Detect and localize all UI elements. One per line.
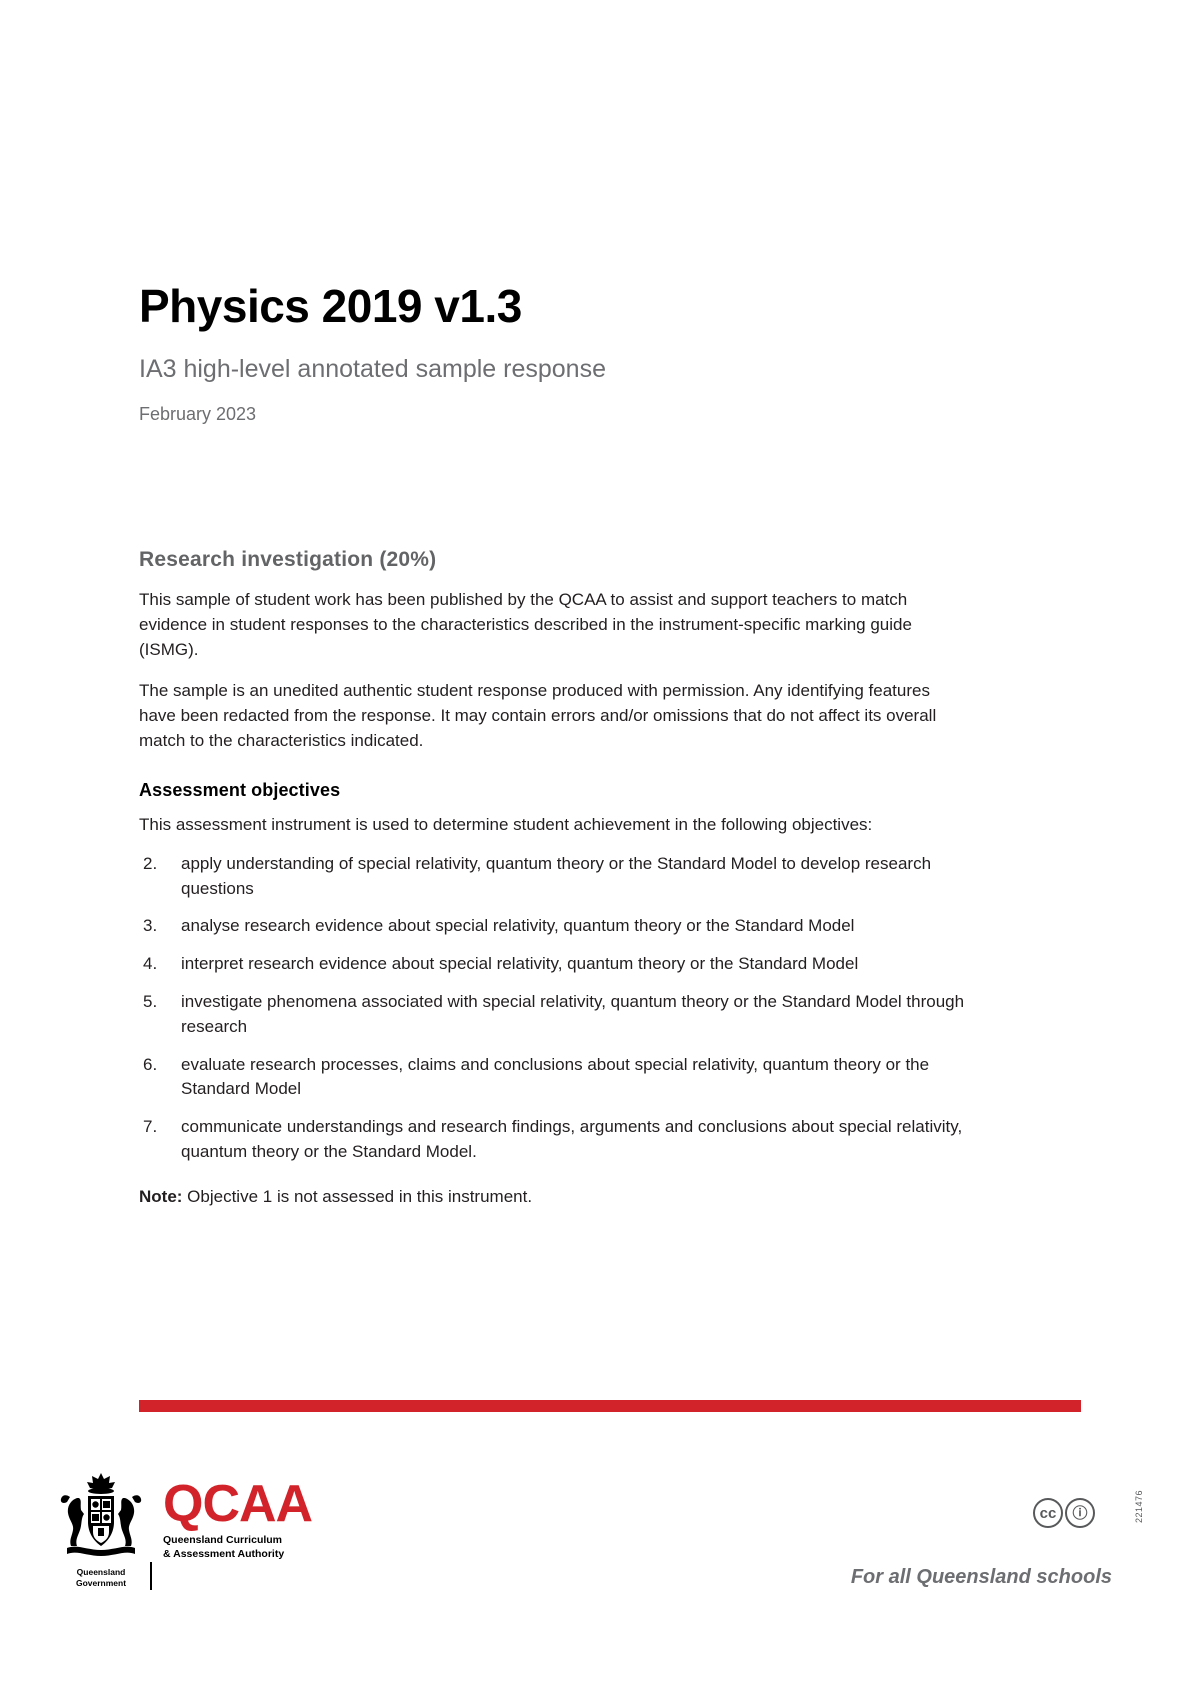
list-item-text: analyse research evidence about special … — [181, 916, 854, 935]
note-label: Note: — [139, 1187, 182, 1206]
sub-heading-assessment-objectives: Assessment objectives — [139, 780, 969, 801]
footer-tagline: For all Queensland schools — [851, 1566, 1112, 1589]
qg-wordmark-line1: Queensland — [55, 1567, 147, 1578]
note-line: Note: Objective 1 is not assessed in thi… — [139, 1185, 969, 1210]
logo-divider — [150, 1562, 152, 1590]
objectives-list: 2. apply understanding of special relati… — [139, 852, 969, 1165]
list-item: 2. apply understanding of special relati… — [139, 852, 969, 902]
qcaa-logo-block: QCAA Queensland Curriculum & Assessment … — [163, 1478, 348, 1561]
creative-commons-icons: cc ⓘ — [1033, 1498, 1095, 1528]
list-item: 7. communicate understandings and resear… — [139, 1115, 969, 1165]
qg-wordmark-line2: Government — [55, 1578, 147, 1589]
page-date: February 2023 — [139, 404, 1039, 426]
document-code: 221476 — [1134, 1490, 1144, 1523]
qcaa-logo-text: QCAA — [163, 1478, 348, 1530]
list-item-number: 7. — [143, 1115, 173, 1140]
qcaa-full-name: Queensland Curriculum & Assessment Autho… — [163, 1534, 348, 1561]
qcaa-name-line2: & Assessment Authority — [163, 1548, 348, 1562]
page-subtitle: IA3 high-level annotated sample response — [139, 354, 1039, 384]
list-item-number: 3. — [143, 914, 173, 939]
list-item: 4. interpret research evidence about spe… — [139, 952, 969, 977]
list-item-text: communicate understandings and research … — [181, 1117, 962, 1161]
queensland-government-wordmark: Queensland Government — [55, 1567, 147, 1588]
list-item-text: evaluate research processes, claims and … — [181, 1055, 929, 1099]
list-item-number: 5. — [143, 990, 173, 1015]
cc-icon: cc — [1033, 1498, 1063, 1528]
objectives-intro: This assessment instrument is used to de… — [139, 813, 969, 838]
note-text: Objective 1 is not assessed in this inst… — [182, 1187, 532, 1206]
document-page: Physics 2019 v1.3 IA3 high-level annotat… — [0, 0, 1200, 1696]
intro-paragraph-2: The sample is an unedited authentic stud… — [139, 679, 969, 753]
list-item-number: 6. — [143, 1053, 173, 1078]
page-footer: Queensland Government QCAA Queensland Cu… — [0, 1470, 1200, 1630]
intro-paragraph-1: This sample of student work has been pub… — [139, 588, 969, 662]
cc-by-icon: ⓘ — [1065, 1498, 1095, 1528]
section-heading-research-investigation: Research investigation (20%) — [139, 548, 969, 572]
title-block: Physics 2019 v1.3 IA3 high-level annotat… — [139, 282, 1039, 425]
red-divider-rule — [139, 1400, 1081, 1412]
list-item-number: 4. — [143, 952, 173, 977]
main-content: Research investigation (20%) This sample… — [139, 548, 969, 1210]
list-item-number: 2. — [143, 852, 173, 877]
list-item-text: interpret research evidence about specia… — [181, 954, 858, 973]
list-item: 5. investigate phenomena associated with… — [139, 990, 969, 1040]
page-title: Physics 2019 v1.3 — [139, 282, 1039, 332]
list-item: 6. evaluate research processes, claims a… — [139, 1053, 969, 1103]
list-item: 3. analyse research evidence about speci… — [139, 914, 969, 939]
list-item-text: investigate phenomena associated with sp… — [181, 992, 964, 1036]
list-item-text: apply understanding of special relativit… — [181, 854, 931, 898]
qcaa-name-line1: Queensland Curriculum — [163, 1534, 348, 1548]
